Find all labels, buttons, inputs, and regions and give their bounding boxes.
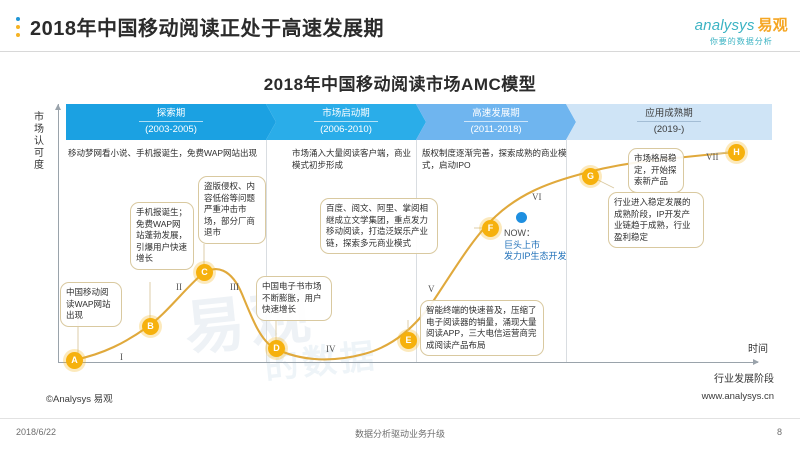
node-h[interactable]: H [728, 144, 745, 161]
header-divider [0, 51, 800, 52]
website-url: www.analysys.cn [702, 391, 774, 402]
copyright: ©Analysys 易观 [46, 391, 113, 405]
header-dots-icon [16, 17, 21, 41]
analysys-logo: analysys易观 你要的数据分析 [695, 14, 788, 47]
segment-numeral-iii: III [230, 282, 239, 292]
callout-e: 智能终端的快速普及，压缩了电子阅读器的销量，涌现大量阅读APP，三大电信运营商完… [420, 300, 544, 356]
footer-divider [0, 418, 800, 419]
node-f[interactable]: F [482, 220, 499, 237]
logo-wordmark: analysys易观 [695, 14, 788, 35]
top-note-exploration: 移动梦网看小说、手机报诞生，免费WAP网站出现 [68, 148, 258, 160]
segment-numeral-v: V [428, 284, 435, 294]
node-g[interactable]: G [582, 168, 599, 185]
callout-b: 手机报诞生；免费WAP网站蓬勃发展，引爆用户快速增长 [130, 202, 194, 270]
logo-wordmark-en: analysys [695, 17, 755, 34]
footer-tagline: 数据分析驱动业务升级 [0, 427, 800, 440]
logo-tagline: 你要的数据分析 [695, 36, 788, 47]
amc-chart: 易观 的数据 探索期 (2003-2005) 市场启动期 (2006-2010)… [34, 104, 774, 382]
segment-numeral-vi: VI [532, 192, 542, 202]
now-line-2: 发力IP生态开发 [504, 251, 614, 263]
chart-title: 2018年中国移动阅读市场AMC模型 [0, 70, 800, 95]
now-marker-dot[interactable] [516, 212, 527, 223]
callout-d: 中国电子书市场不断膨胀，用户快速增长 [256, 276, 332, 321]
callout-f: 百度、阅文、阿里、掌阅相继成立文学集团，重点发力移动阅读，打造泛娱乐产业链，探索… [320, 198, 438, 254]
node-a[interactable]: A [66, 352, 83, 369]
callout-h: 市场格局稳定，开始探索新产品 [628, 148, 684, 193]
segment-numeral-vii: VII [706, 152, 719, 162]
callout-g: 行业进入稳定发展的成熟阶段，IP开发产业链趋于成熟，行业盈利稳定 [608, 192, 704, 248]
now-marker-label: NOW： 巨头上市 发力IP生态开发 [504, 228, 614, 263]
segment-numeral-iv: IV [326, 344, 336, 354]
segment-numeral-i: I [120, 352, 123, 362]
callout-c: 盗版侵权、内容低俗等问题严重冲击市场，部分厂商退市 [198, 176, 266, 244]
logo-wordmark-cn: 易观 [758, 17, 788, 34]
slide-header: 2018年中国移动阅读正处于高速发展期 analysys易观 你要的数据分析 [0, 0, 800, 52]
callout-a: 中国移动阅读WAP网站出现 [60, 282, 122, 327]
page-title: 2018年中国移动阅读正处于高速发展期 [30, 12, 384, 41]
node-e[interactable]: E [400, 332, 417, 349]
now-line-1: 巨头上市 [504, 240, 614, 252]
node-d[interactable]: D [268, 340, 285, 357]
node-b[interactable]: B [142, 318, 159, 335]
node-c[interactable]: C [196, 264, 213, 281]
now-label: NOW： [504, 228, 614, 240]
top-note-highgrowth: 版权制度逐渐完善，探索成熟的商业模式，启动IPO [422, 148, 570, 171]
slide: 2018年中国移动阅读正处于高速发展期 analysys易观 你要的数据分析 2… [0, 0, 800, 450]
footer-page-number: 8 [777, 427, 782, 437]
top-note-startup: 市场涌入大量阅读客户端，商业模式初步形成 [292, 148, 414, 171]
segment-numeral-ii: II [176, 282, 182, 292]
